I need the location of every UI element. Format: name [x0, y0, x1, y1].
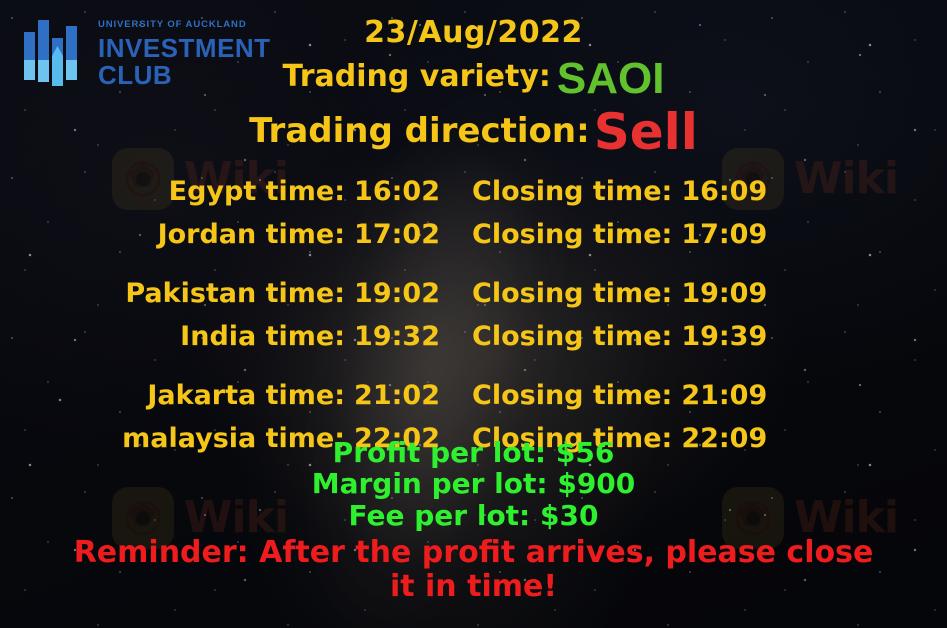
timezone-label: Pakistan time:	[125, 278, 345, 309]
trading-variety-line: Trading variety:SAOI	[0, 57, 947, 101]
closing-time-label: Closing time:	[472, 176, 672, 207]
timezone-label: Jordan time:	[158, 219, 345, 250]
closing-time-label: Closing time:	[472, 219, 672, 250]
closing-time-label: Closing time:	[472, 380, 672, 411]
timezone-label: Jakarta time:	[147, 380, 345, 411]
group-spacer	[0, 262, 947, 278]
close-cell: Closing time:17:09	[456, 219, 912, 250]
trading-variety-label: Trading variety:	[283, 59, 551, 94]
signal-date: 23/Aug/2022	[0, 16, 947, 49]
schedule-row: Jordan time:17:02 Closing time:17:09	[0, 219, 947, 262]
reminder-text: Reminder: After the profit arrives, plea…	[60, 536, 887, 604]
margin-per-lot: Margin per lot: $900	[0, 468, 947, 499]
closing-time-value: 19:39	[681, 321, 767, 352]
open-time-value: 16:02	[354, 176, 440, 207]
headline-stack: 23/Aug/2022 Trading variety:SAOI Trading…	[0, 16, 947, 157]
closing-time-label: Closing time:	[472, 321, 672, 352]
schedule-group: Pakistan time:19:02 Closing time:19:09 I…	[0, 278, 947, 364]
open-time-value: 21:02	[354, 380, 440, 411]
close-cell: Closing time:19:39	[456, 321, 912, 352]
closing-time-value: 21:09	[681, 380, 767, 411]
timezone-label: India time:	[180, 321, 345, 352]
timezone-label: Egypt time:	[169, 176, 345, 207]
schedule-group: Egypt time:16:02 Closing time:16:09 Jord…	[0, 176, 947, 262]
closing-time-value: 16:09	[681, 176, 767, 207]
open-cell: India time:19:32	[0, 321, 456, 352]
close-cell: Closing time:21:09	[456, 380, 912, 411]
session-schedule: Egypt time:16:02 Closing time:16:09 Jord…	[0, 176, 947, 466]
open-cell: Pakistan time:19:02	[0, 278, 456, 309]
close-cell: Closing time:16:09	[456, 176, 912, 207]
trading-direction-value: Sell	[594, 103, 698, 161]
schedule-row: Pakistan time:19:02 Closing time:19:09	[0, 278, 947, 321]
open-cell: Jakarta time:21:02	[0, 380, 456, 411]
schedule-row: India time:19:32 Closing time:19:39	[0, 321, 947, 364]
open-time-value: 19:32	[354, 321, 440, 352]
trading-variety-value: SAOI	[557, 54, 665, 103]
trading-signal-poster: Wiki Wiki Wiki Wi	[0, 0, 947, 628]
group-spacer	[0, 364, 947, 380]
open-time-value: 19:02	[354, 278, 440, 309]
trading-direction-label: Trading direction:	[249, 111, 590, 151]
closing-time-value: 17:09	[681, 219, 767, 250]
profit-figures: Profit per lot: $56 Margin per lot: $900…	[0, 437, 947, 531]
open-time-value: 17:02	[354, 219, 440, 250]
schedule-row: Egypt time:16:02 Closing time:16:09	[0, 176, 947, 219]
close-cell: Closing time:19:09	[456, 278, 912, 309]
trading-direction-line: Trading direction:Sell	[0, 107, 947, 157]
profit-per-lot: Profit per lot: $56	[0, 437, 947, 468]
schedule-row: Jakarta time:21:02 Closing time:21:09	[0, 380, 947, 423]
open-cell: Jordan time:17:02	[0, 219, 456, 250]
closing-time-label: Closing time:	[472, 278, 672, 309]
open-cell: Egypt time:16:02	[0, 176, 456, 207]
closing-time-value: 19:09	[681, 278, 767, 309]
fee-per-lot: Fee per lot: $30	[0, 500, 947, 531]
